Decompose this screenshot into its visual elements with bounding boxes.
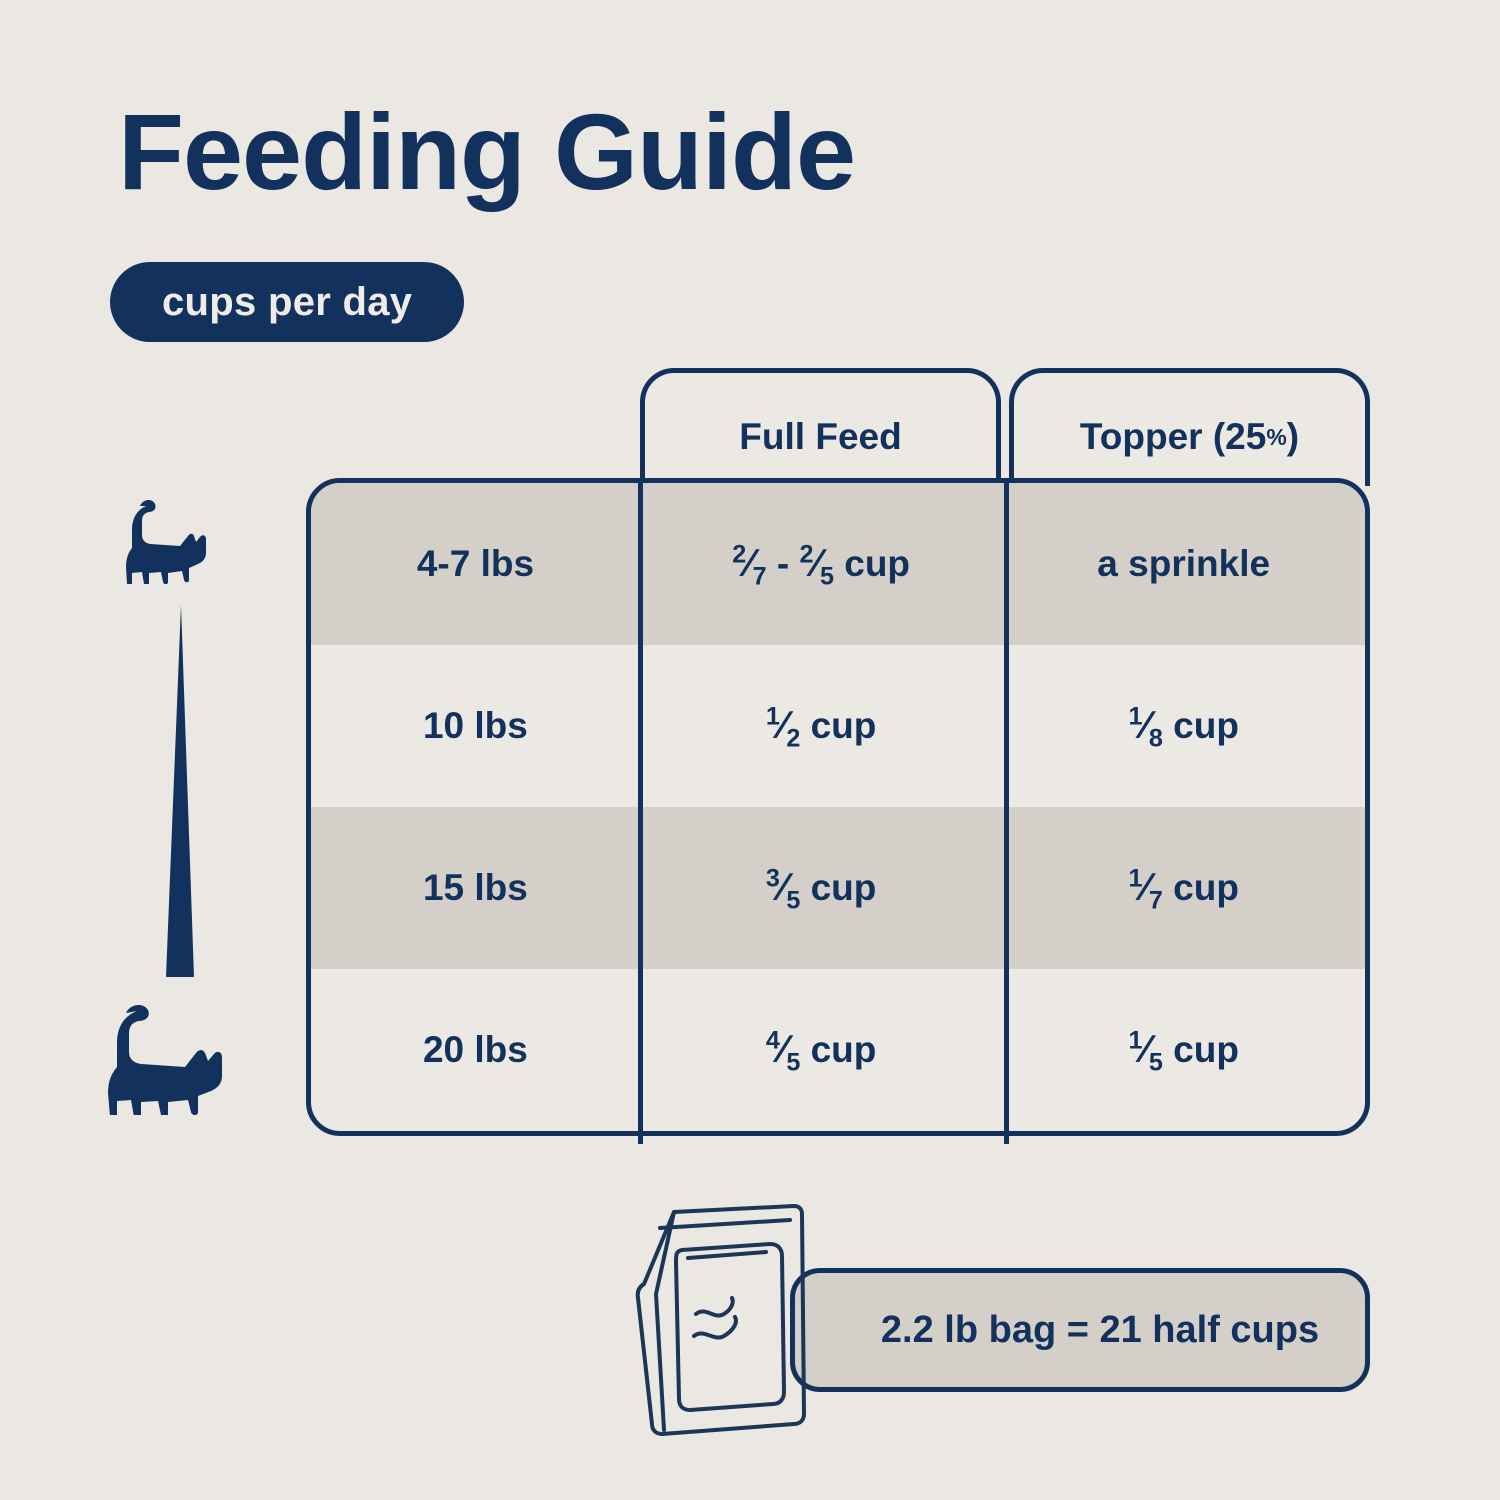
bag-callout-bar: 2.2 lb bag = 21 half cups [790, 1268, 1370, 1392]
header-full-feed: Full Feed [640, 368, 1001, 486]
column-divider-2 [1004, 478, 1009, 1144]
unit-label: cup [811, 867, 877, 908]
food-bag-illustration [618, 1202, 833, 1437]
page-title: Feeding Guide [118, 98, 855, 206]
header-topper-suffix: ) [1287, 416, 1299, 458]
unit-label: cup [1173, 867, 1239, 908]
cell-weight: 20 lbs [311, 969, 640, 1131]
cell-full-feed: 1⁄2 cup [640, 645, 1003, 807]
table-row: 10 lbs 1⁄2 cup 1⁄8 cup [311, 645, 1365, 807]
feeding-guide-infographic: Feeding Guide cups per day Full Feed Top… [0, 0, 1500, 1500]
fraction-denominator: 5 [1149, 1048, 1163, 1076]
unit-label: cup [1173, 1029, 1239, 1070]
cell-weight: 15 lbs [311, 807, 640, 969]
cell-full-feed: 3⁄5 cup [640, 807, 1003, 969]
range-dash: - [777, 543, 789, 584]
fraction-numerator: 1 [766, 703, 780, 731]
cell-weight: 4-7 lbs [311, 483, 640, 645]
fraction-denominator: 5 [786, 1048, 800, 1076]
cell-full-feed: 4⁄5 cup [640, 969, 1003, 1131]
cell-full-feed: 2⁄7 - 2⁄5 cup [640, 483, 1003, 645]
cat-walking-icon-small [110, 492, 232, 584]
cell-weight: 10 lbs [311, 645, 640, 807]
feeding-table: 4-7 lbs 2⁄7 - 2⁄5 cup a sprinkle 10 lbs … [306, 478, 1370, 1136]
fraction-denominator: 2 [786, 724, 800, 752]
column-divider-1 [638, 478, 643, 1144]
fraction-numerator: 3 [766, 865, 780, 893]
cell-topper: 1⁄7 cup [1002, 807, 1365, 969]
header-topper-prefix: Topper (25 [1080, 416, 1266, 458]
size-gradient-wedge [150, 605, 212, 977]
unit-label: cup [811, 1029, 877, 1070]
cell-topper: 1⁄5 cup [1002, 969, 1365, 1131]
fraction-denominator-2: 5 [820, 562, 834, 590]
table-row: 20 lbs 4⁄5 cup 1⁄5 cup [311, 969, 1365, 1131]
table-row: 4-7 lbs 2⁄7 - 2⁄5 cup a sprinkle [311, 483, 1365, 645]
fraction-numerator-2: 2 [800, 541, 814, 569]
fraction-denominator: 7 [1149, 886, 1163, 914]
table-header-tabs: Full Feed Topper (25%) [640, 368, 1370, 486]
fraction-denominator: 5 [786, 886, 800, 914]
fraction-numerator: 1 [1128, 1027, 1142, 1055]
fraction-numerator: 1 [1128, 865, 1142, 893]
fraction-denominator: 7 [753, 562, 767, 590]
fraction-denominator: 8 [1149, 724, 1163, 752]
cups-per-day-badge: cups per day [110, 262, 464, 342]
fraction-numerator: 4 [766, 1027, 780, 1055]
header-topper: Topper (25%) [1009, 368, 1370, 486]
cat-walking-icon-large [82, 995, 262, 1115]
table-row: 15 lbs 3⁄5 cup 1⁄7 cup [311, 807, 1365, 969]
unit-label: cup [1173, 705, 1239, 746]
fraction-numerator: 1 [1128, 703, 1142, 731]
unit-label: cup [844, 543, 910, 584]
fraction-numerator: 2 [732, 541, 746, 569]
cell-topper: a sprinkle [1002, 483, 1365, 645]
unit-label: cup [811, 705, 877, 746]
cell-topper: 1⁄8 cup [1002, 645, 1365, 807]
